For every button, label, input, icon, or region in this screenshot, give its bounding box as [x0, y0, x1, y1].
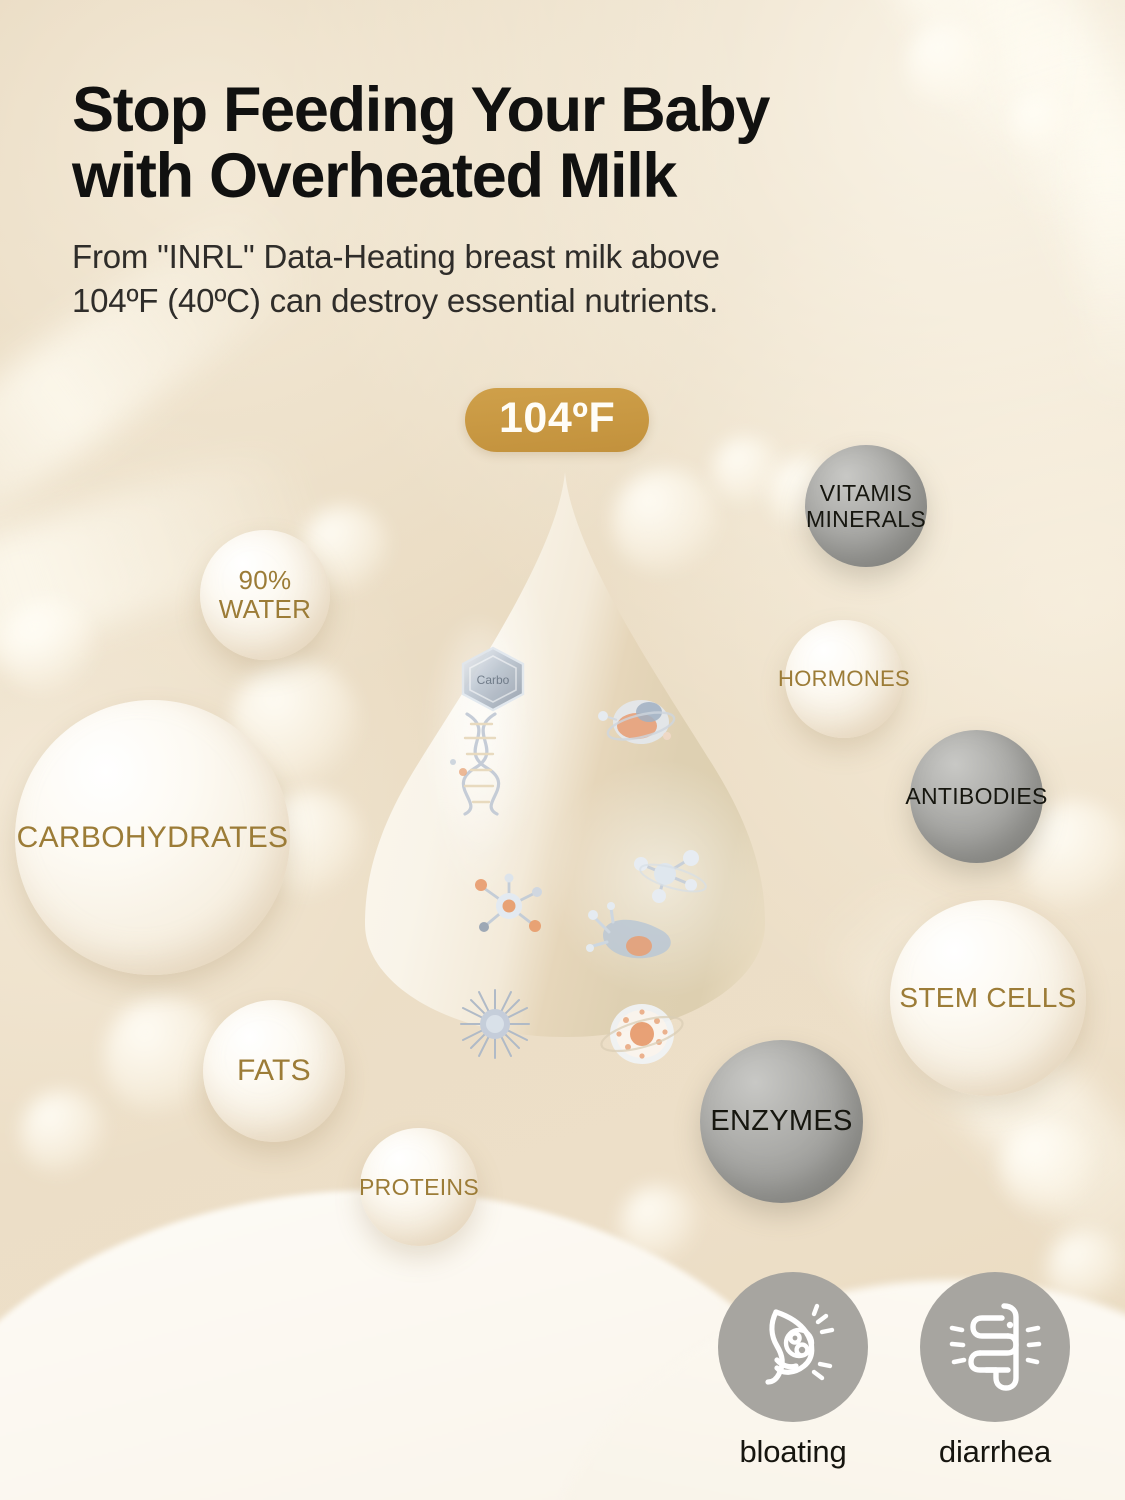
molecule-radial-icon: [465, 868, 551, 944]
nutrient-label: PROTEINS: [353, 1174, 485, 1201]
nutrient-label: 90% WATER: [213, 566, 318, 624]
symptoms-row: bloating: [718, 1272, 1070, 1470]
symptom-label: diarrhea: [939, 1434, 1051, 1470]
nutrient-label: FATS: [231, 1054, 317, 1088]
nutrient-label: ANTIBODIES: [899, 783, 1053, 810]
subtitle-line-1: From "INRL" Data-Heating breast milk abo…: [72, 235, 1022, 279]
stomach-bloating-icon: [744, 1298, 842, 1396]
intestine-diarrhea-icon: [946, 1298, 1044, 1396]
carbo-hexagon-icon: Carbo: [457, 644, 529, 714]
subtitle-line-2: 104ºF (40ºC) can destroy essential nutri…: [72, 279, 1022, 323]
svg-text:Carbo: Carbo: [477, 673, 510, 687]
background-bokeh: [20, 1090, 106, 1176]
symptom-bloating: bloating: [718, 1272, 868, 1470]
header-block: Stop Feeding Your Baby with Overheated M…: [72, 78, 1022, 322]
molecule-cross-icon: [629, 844, 709, 910]
headline-line-2: with Overheated Milk: [72, 144, 1022, 210]
nutrient-bubble-proteins: PROTEINS: [360, 1128, 478, 1246]
virus-spike-icon: [455, 984, 535, 1064]
milk-droplet: Carbo: [365, 472, 765, 1037]
background-bokeh: [0, 600, 96, 696]
nutrient-bubble-stem-cells: STEM CELLS: [890, 900, 1086, 1096]
nutrient-bubble-antibodies: ANTIBODIES: [910, 730, 1043, 863]
nutrient-label: HORMONES: [772, 666, 916, 692]
page-title: Stop Feeding Your Baby with Overheated M…: [72, 78, 1022, 209]
nutrient-bubble-water: 90% WATER: [200, 530, 330, 660]
nutrient-label-line-2: WATER: [219, 594, 312, 624]
dna-helix-icon: [445, 710, 517, 818]
page-subtitle: From "INRL" Data-Heating breast milk abo…: [72, 235, 1022, 322]
nutrient-label-line-2: MINERALS: [806, 506, 926, 532]
nutrient-bubble-vitamins-minerals: VITAMIS MINERALS: [805, 445, 927, 567]
nutrient-label: CARBOHYDRATES: [11, 821, 295, 855]
temperature-badge: 104ºF: [465, 388, 649, 452]
symptom-label: bloating: [740, 1434, 847, 1470]
symptom-icon-circle: [718, 1272, 868, 1422]
symptom-icon-circle: [920, 1272, 1070, 1422]
nutrient-bubble-fats: FATS: [203, 1000, 345, 1142]
nutrient-bubble-hormones: HORMONES: [785, 620, 903, 738]
nutrient-label-line-1: 90%: [239, 565, 292, 595]
symptom-diarrhea: diarrhea: [920, 1272, 1070, 1470]
nutrient-label: VITAMIS MINERALS: [800, 480, 932, 533]
headline-line-1: Stop Feeding Your Baby: [72, 75, 769, 145]
nutrient-label: STEM CELLS: [893, 982, 1082, 1014]
cell-nucleus-icon: [595, 990, 689, 1074]
nutrient-bubble-enzymes: ENZYMES: [700, 1040, 863, 1203]
antibody-cell-icon: [587, 902, 683, 976]
stem-cell-icon: [593, 690, 677, 760]
background-bokeh: [1000, 1120, 1096, 1216]
background-beam: [1065, 0, 1125, 407]
infographic-poster: Stop Feeding Your Baby with Overheated M…: [0, 0, 1125, 1500]
nutrient-bubble-carbohydrates: CARBOHYDRATES: [15, 700, 290, 975]
nutrient-label-line-1: VITAMIS: [820, 480, 912, 506]
nutrient-label: ENZYMES: [704, 1105, 858, 1138]
